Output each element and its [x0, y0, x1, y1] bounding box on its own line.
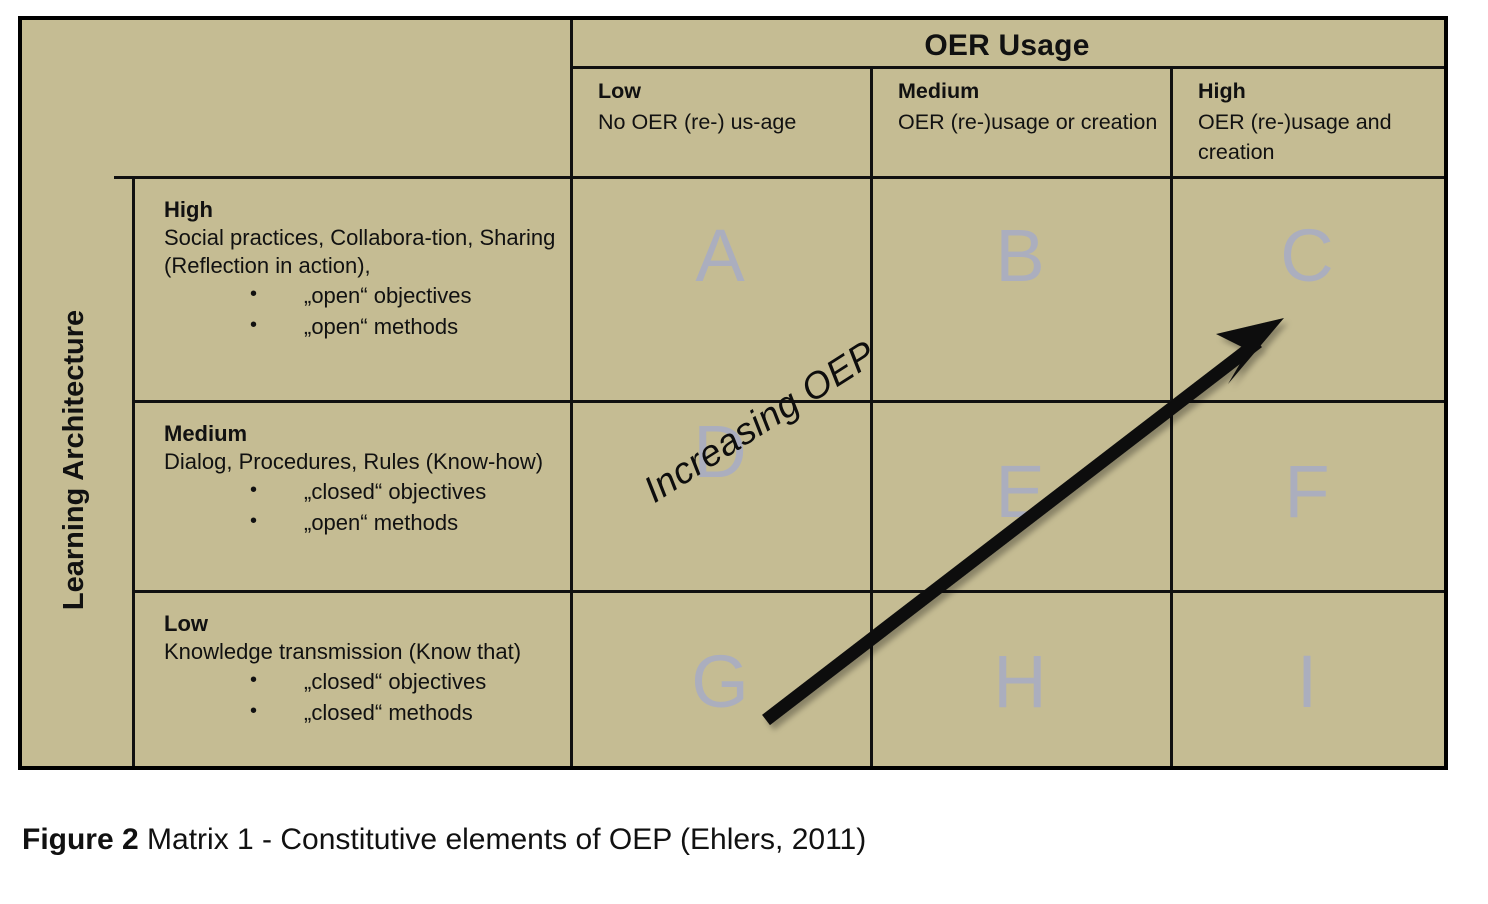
row-description-low-bullets: „closed“ objectives „closed“ methods	[164, 668, 578, 727]
row-description-medium-title: Medium	[164, 420, 578, 448]
bullet-item: „open“ objectives	[250, 282, 578, 311]
matrix-cell-B: B	[870, 216, 1170, 296]
row-axis-title: Learning Architecture	[22, 160, 126, 760]
column-axis-title: OER Usage	[570, 26, 1444, 66]
row-description-medium-bullets: „closed“ objectives „open“ methods	[164, 478, 578, 537]
row-description-low-title: Low	[164, 610, 578, 638]
column-header-low-title: Low	[598, 76, 874, 107]
grid-line-header-bottom	[570, 66, 1444, 69]
bullet-item: „closed“ objectives	[250, 668, 578, 697]
column-header-high-description: OER (re-)usage and creation	[1198, 107, 1438, 168]
row-description-high-title: High	[164, 196, 578, 224]
column-header-low-description: No OER (re-) us-age	[598, 107, 874, 138]
grid-line-row-low-top	[132, 590, 1444, 593]
column-header-medium-description: OER (re-)usage or creation	[898, 107, 1174, 138]
grid-line-axis-column	[132, 176, 135, 766]
matrix-cell-G: G	[570, 642, 870, 722]
row-description-low-body: Knowledge transmission (Know that)	[164, 638, 578, 666]
matrix-cell-I: I	[1170, 642, 1444, 722]
matrix-cell-C: C	[1170, 216, 1444, 296]
bullet-item: „open“ methods	[250, 313, 578, 342]
figure-caption-label: Figure 2	[22, 823, 139, 856]
bullet-item: „open“ methods	[250, 509, 578, 538]
column-header-low: Low No OER (re-) us-age	[588, 72, 882, 178]
row-description-high: High Social practices, Collabora-tion, S…	[150, 192, 584, 344]
bullet-item: „closed“ objectives	[250, 478, 578, 507]
matrix-cell-A: A	[570, 216, 870, 296]
bullet-item: „closed“ methods	[250, 699, 578, 728]
row-description-high-bullets: „open“ objectives „open“ methods	[164, 282, 578, 341]
row-description-medium-body: Dialog, Procedures, Rules (Know-how)	[164, 448, 578, 476]
figure-container: OER Usage Low No OER (re-) us-age Medium…	[0, 0, 1488, 904]
oep-matrix-table: OER Usage Low No OER (re-) us-age Medium…	[18, 16, 1448, 770]
row-description-high-body: Social practices, Collabora-tion, Sharin…	[164, 224, 578, 280]
matrix-cell-E: E	[870, 452, 1170, 532]
row-description-medium: Medium Dialog, Procedures, Rules (Know-h…	[150, 416, 584, 540]
matrix-cell-H: H	[870, 642, 1170, 722]
matrix-cell-F: F	[1170, 452, 1444, 532]
arrow-head	[1216, 318, 1284, 384]
column-header-medium-title: Medium	[898, 76, 1174, 107]
column-header-high: High OER (re-)usage and creation	[1188, 72, 1446, 178]
figure-caption-text: Matrix 1 - Constitutive elements of OEP …	[139, 823, 867, 856]
column-header-high-title: High	[1198, 76, 1438, 107]
column-header-medium: Medium OER (re-)usage or creation	[888, 72, 1182, 178]
row-description-low: Low Knowledge transmission (Know that) „…	[150, 606, 584, 730]
figure-caption: Figure 2 Matrix 1 - Constitutive element…	[22, 822, 1462, 858]
